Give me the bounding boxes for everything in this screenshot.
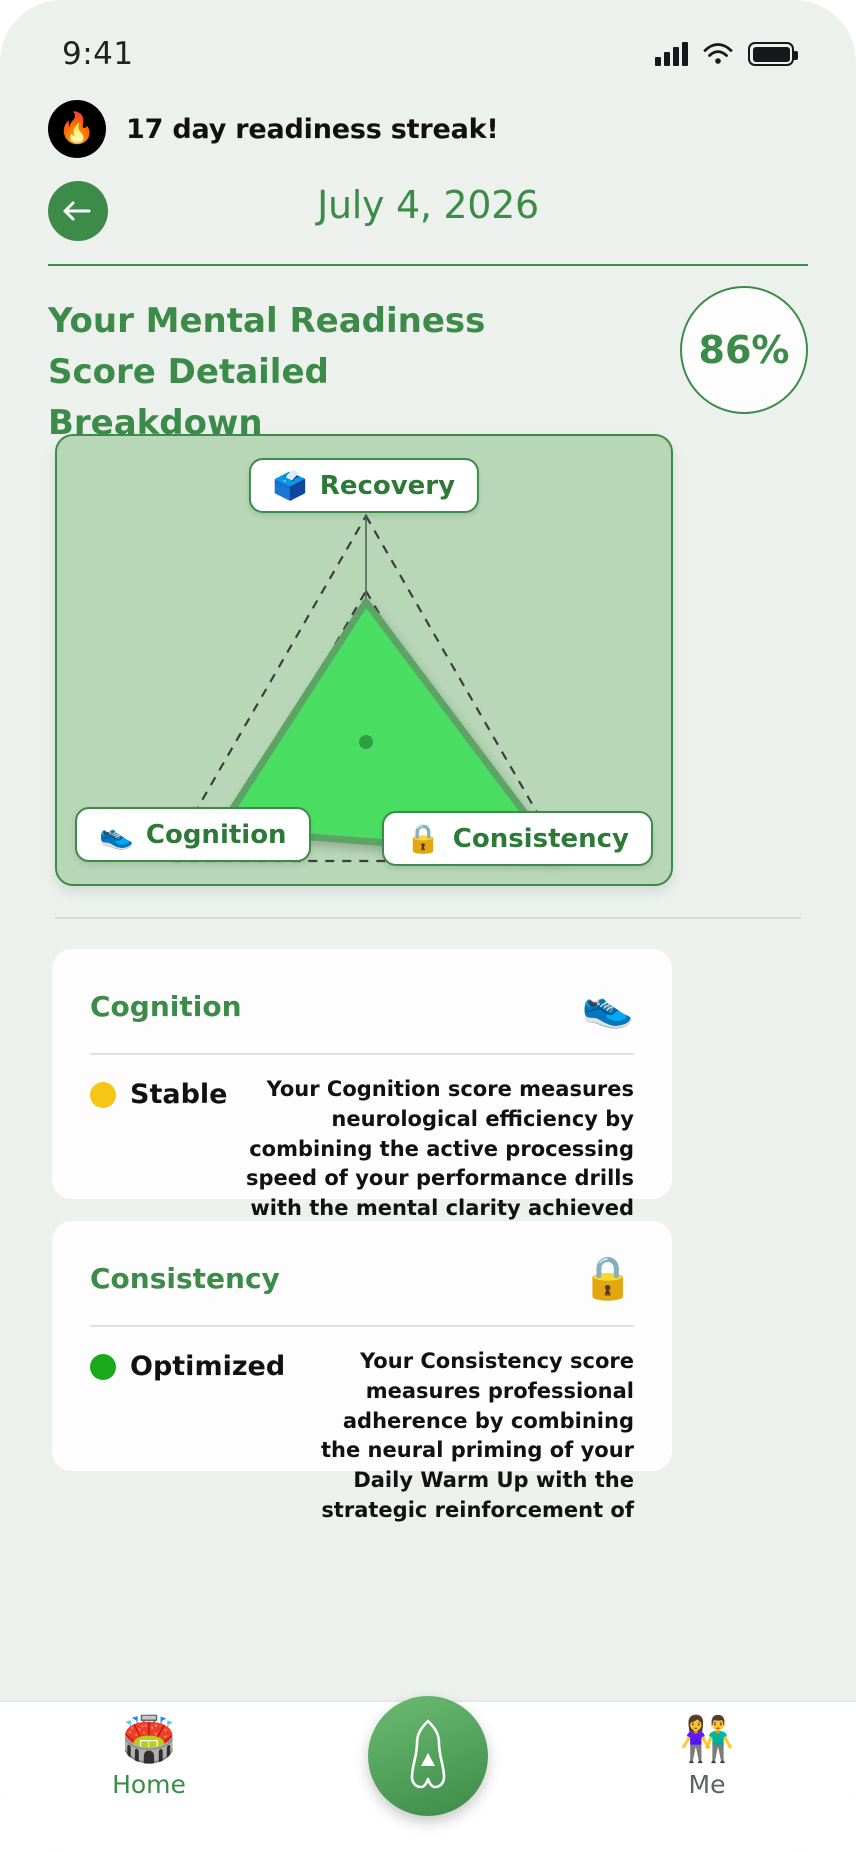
card-title: Consistency xyxy=(90,1262,280,1295)
axis-chip-cognition[interactable]: 👟 Cognition xyxy=(75,807,311,862)
lock-icon: 🔒 xyxy=(582,1257,634,1299)
radar-center-dot xyxy=(359,735,373,749)
status-dot xyxy=(90,1082,116,1108)
bottom-nav: 🏟️ Home 👫 Me xyxy=(0,1700,856,1852)
tab-me[interactable]: 👫 Me xyxy=(632,1718,782,1799)
card-title: Cognition xyxy=(90,990,242,1023)
stadium-icon: 🏟️ xyxy=(122,1718,177,1762)
page-title: Your Mental Readiness Score Detailed Bre… xyxy=(48,296,548,449)
axis-chip-consistency[interactable]: 🔒 Consistency xyxy=(382,811,653,866)
card-divider xyxy=(90,1325,634,1327)
center-action-button[interactable] xyxy=(368,1696,488,1816)
date-header: July 4, 2026 xyxy=(48,181,808,241)
status-dot xyxy=(90,1354,116,1380)
streak-banner: 🔥 17 day readiness streak! xyxy=(48,100,499,158)
summary-header: Your Mental Readiness Score Detailed Bre… xyxy=(48,296,808,406)
axis-chip-recovery[interactable]: 🗳️ Recovery xyxy=(249,458,479,513)
card-description: Your Consistency score measures professi… xyxy=(301,1347,634,1526)
flame-icon: 🔥 xyxy=(48,100,106,158)
status-label: Stable xyxy=(130,1079,227,1110)
card-header: Consistency 🔒 xyxy=(90,1255,634,1301)
date-title: July 4, 2026 xyxy=(48,183,808,227)
battery-icon xyxy=(748,42,794,66)
phone-frame: 9:41 🔥 17 day readiness streak! July 4, … xyxy=(0,0,856,1852)
card-divider xyxy=(90,1053,634,1055)
winged-shoe-icon: 👟 xyxy=(99,818,134,851)
status-badge: Optimized xyxy=(90,1347,285,1382)
status-icons xyxy=(655,42,794,66)
detail-card-consistency: Consistency 🔒 Optimized Your Consistency… xyxy=(52,1221,672,1471)
status-time: 9:41 xyxy=(62,36,134,72)
tab-home-label: Home xyxy=(112,1770,186,1799)
people-icon: 👫 xyxy=(680,1718,735,1762)
wifi-icon xyxy=(702,42,734,66)
card-body: Optimized Your Consistency score measure… xyxy=(90,1347,634,1526)
status-bar: 9:41 xyxy=(0,0,856,86)
score-badge: 86% xyxy=(680,286,808,414)
card-header: Cognition 👟 xyxy=(90,983,634,1029)
status-badge: Stable xyxy=(90,1075,227,1110)
header-divider xyxy=(48,264,808,266)
status-label: Optimized xyxy=(130,1351,285,1382)
axis-chip-consistency-label: Consistency xyxy=(453,824,629,854)
ballot-box-icon: 🗳️ xyxy=(273,469,308,502)
section-divider xyxy=(55,917,801,919)
axis-chip-cognition-label: Cognition xyxy=(146,820,287,850)
radar-chart-card: 🗳️ Recovery 👟 Cognition 🔒 Consistency xyxy=(55,434,673,886)
torch-icon xyxy=(400,1717,456,1795)
cellular-bars-icon xyxy=(655,42,688,66)
winged-shoe-icon: 👟 xyxy=(582,985,634,1027)
streak-label: 17 day readiness streak! xyxy=(126,114,499,145)
tab-home[interactable]: 🏟️ Home xyxy=(74,1718,224,1799)
detail-card-cognition: Cognition 👟 Stable Your Cognition score … xyxy=(52,949,672,1199)
tab-me-label: Me xyxy=(689,1770,726,1799)
lock-icon: 🔒 xyxy=(406,822,441,855)
axis-chip-recovery-label: Recovery xyxy=(320,471,455,501)
